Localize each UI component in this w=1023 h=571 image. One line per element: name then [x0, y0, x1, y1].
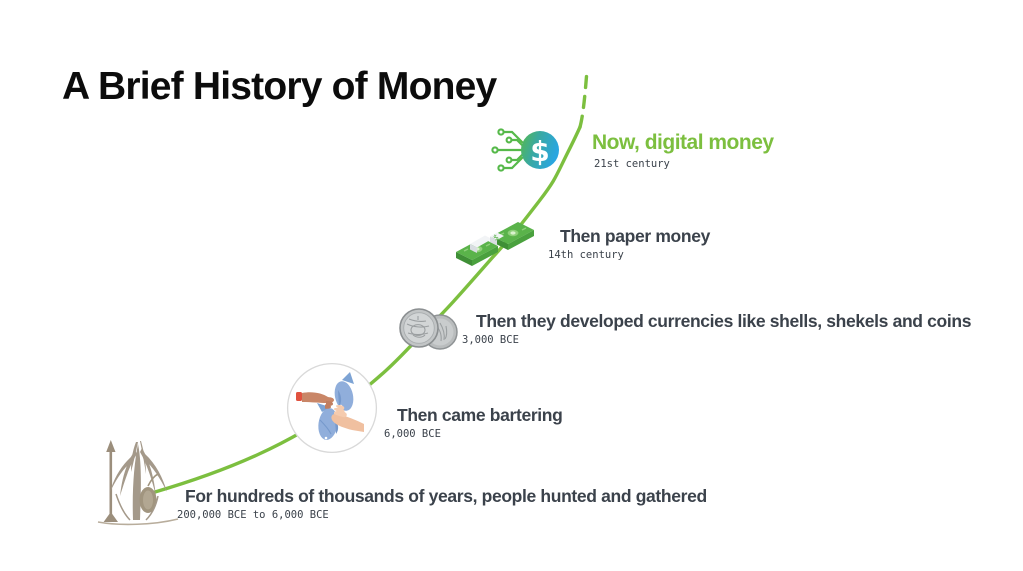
milestone-label-hunting: For hundreds of thousands of years, peop… — [185, 486, 707, 521]
milestone-heading-paper: Then paper money — [560, 226, 710, 246]
silver-coins-icon — [395, 302, 461, 358]
digital-dollar-circuit-icon: $ — [490, 122, 566, 180]
infographic-canvas: A Brief History of Money — [0, 0, 1023, 571]
timeline-path-dashed — [580, 70, 587, 127]
milestone-label-coins: Then they developed currencies like shel… — [476, 311, 971, 346]
milestone-heading-hunting: For hundreds of thousands of years, peop… — [185, 486, 707, 506]
milestone-date-bartering: 6,000 BCE — [384, 428, 562, 440]
svg-text:$: $ — [530, 135, 549, 168]
banknote-stack-icon: $ — [452, 214, 538, 276]
bartering-circle-outline — [288, 364, 377, 453]
milestone-date-hunting: 200,000 BCE to 6,000 BCE — [177, 509, 707, 521]
milestone-heading-bartering: Then came bartering — [397, 405, 562, 425]
milestone-heading-digital: Now, digital money — [592, 131, 774, 155]
milestone-label-paper: Then paper money 14th century — [560, 226, 710, 261]
hands-exchanging-fish-icon — [286, 362, 378, 454]
wheat-grass-spear-icon — [92, 434, 184, 530]
milestone-label-bartering: Then came bartering 6,000 BCE — [397, 405, 562, 440]
page-title: A Brief History of Money — [62, 66, 496, 109]
milestone-heading-coins: Then they developed currencies like shel… — [476, 311, 971, 331]
milestone-date-coins: 3,000 BCE — [462, 334, 971, 346]
milestone-date-paper: 14th century — [548, 249, 710, 261]
milestone-date-digital: 21st century — [594, 158, 774, 170]
milestone-label-digital: Now, digital money 21st century — [592, 131, 774, 170]
